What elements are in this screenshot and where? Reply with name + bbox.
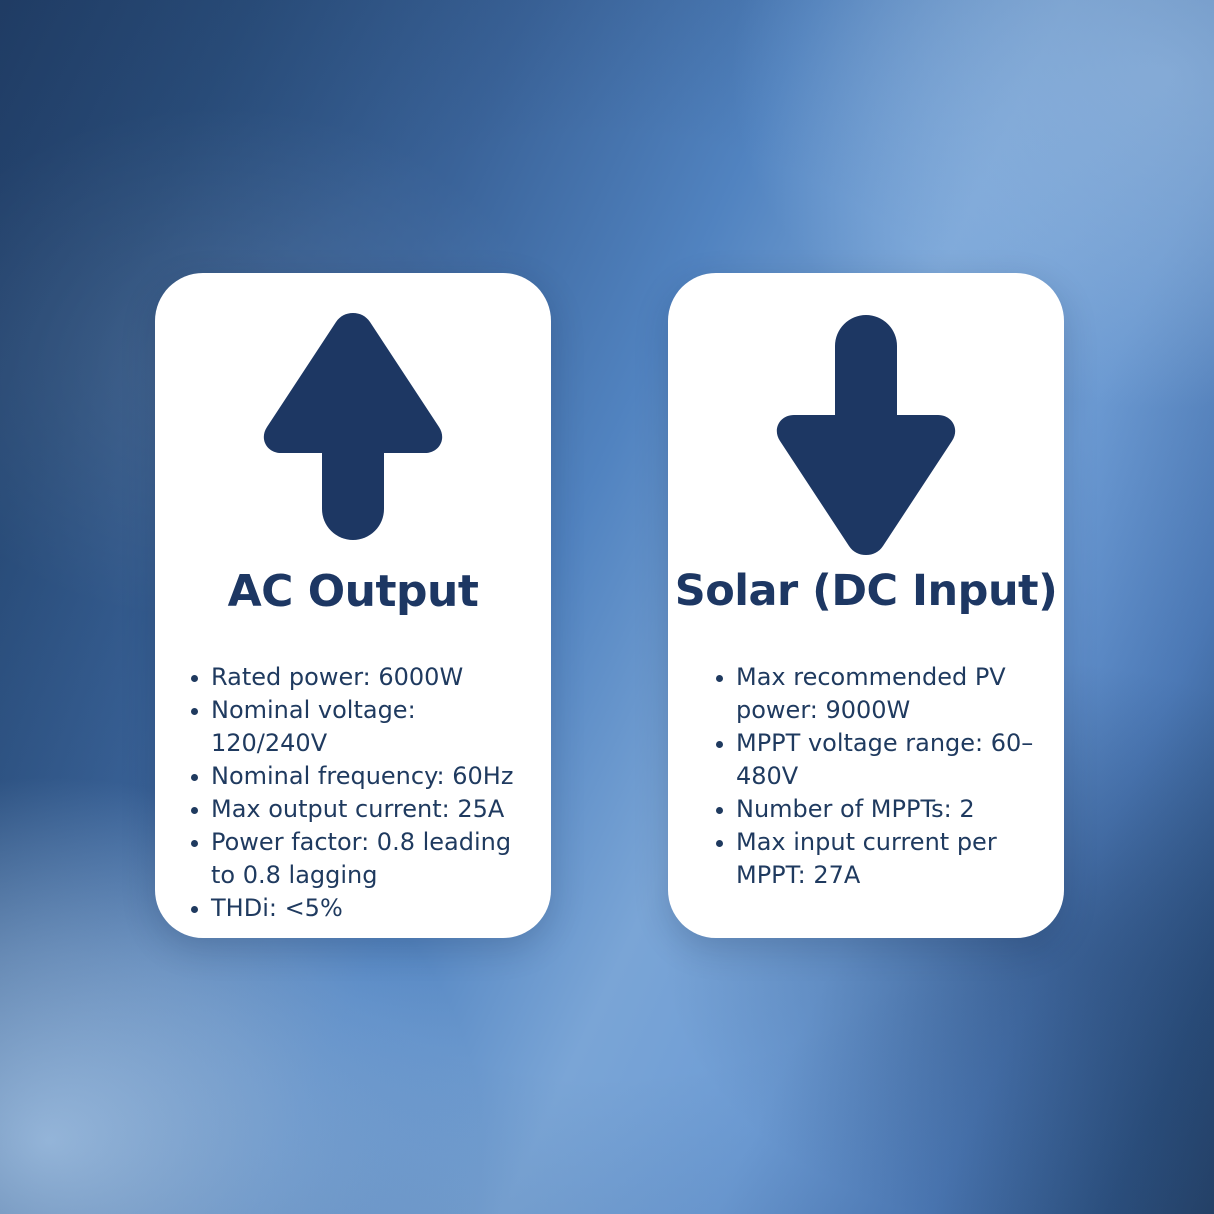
card-title-solar-dc-input: Solar (DC Input) — [668, 569, 1064, 614]
list-item: Nominal voltage: 120/240V — [187, 694, 535, 760]
list-item: MPPT voltage range: 60–480V — [712, 727, 1052, 793]
list-item: Max output current: 25A — [187, 793, 535, 826]
arrow-down-icon — [668, 303, 1064, 565]
list-item: Rated power: 6000W — [187, 661, 535, 694]
list-item: Nominal frequency: 60Hz — [187, 760, 535, 793]
list-item: Max recommended PV power: 9000W — [712, 661, 1052, 727]
list-item: Power factor: 0.8 leading to 0.8 lagging — [187, 826, 535, 892]
list-item: Number of MPPTs: 2 — [712, 793, 1052, 826]
card-ac-output: AC Output Rated power: 6000W Nominal vol… — [155, 273, 551, 938]
list-item: Max input current per MPPT: 27A — [712, 826, 1052, 892]
spec-list-ac-output: Rated power: 6000W Nominal voltage: 120/… — [187, 661, 535, 925]
list-item: THDi: <5% — [187, 892, 535, 925]
card-title-ac-output: AC Output — [155, 569, 551, 615]
poster-canvas: AC Output Rated power: 6000W Nominal vol… — [0, 0, 1214, 1214]
card-solar-dc-input: Solar (DC Input) Max recommended PV powe… — [668, 273, 1064, 938]
spec-list-solar-dc-input: Max recommended PV power: 9000W MPPT vol… — [712, 661, 1052, 892]
arrow-up-icon — [155, 303, 551, 565]
